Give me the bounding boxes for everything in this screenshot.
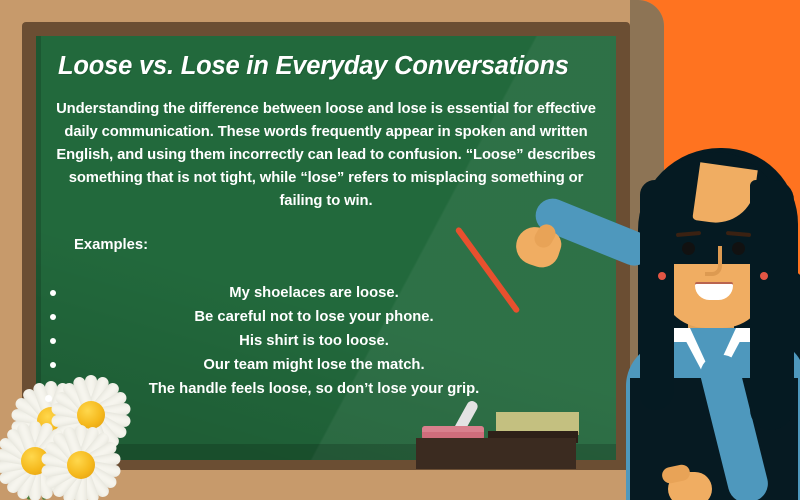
- board-title: Loose vs. Lose in Everyday Conversations: [36, 52, 616, 81]
- daisy-icon: [38, 422, 124, 500]
- hair-side-right: [750, 180, 794, 430]
- bullet-icon: [50, 362, 56, 368]
- eye-left: [682, 242, 695, 255]
- nose: [705, 246, 722, 276]
- bullet-icon: [50, 314, 56, 320]
- illustration-canvas: Loose vs. Lose in Everyday Conversations…: [0, 0, 800, 500]
- hair-side-left: [640, 180, 674, 410]
- chalk-dot-board: [45, 395, 52, 402]
- earring-right: [760, 272, 768, 280]
- bullet-icon: [50, 338, 56, 344]
- daisy-flowers: [0, 372, 150, 500]
- teacher-character: [500, 120, 800, 500]
- bullet-icon: [50, 290, 56, 296]
- eye-right: [732, 242, 745, 255]
- eraser-highlight: [422, 426, 484, 432]
- earring-left: [658, 272, 666, 280]
- examples-label: Examples:: [74, 237, 148, 253]
- daisy-center: [67, 451, 95, 479]
